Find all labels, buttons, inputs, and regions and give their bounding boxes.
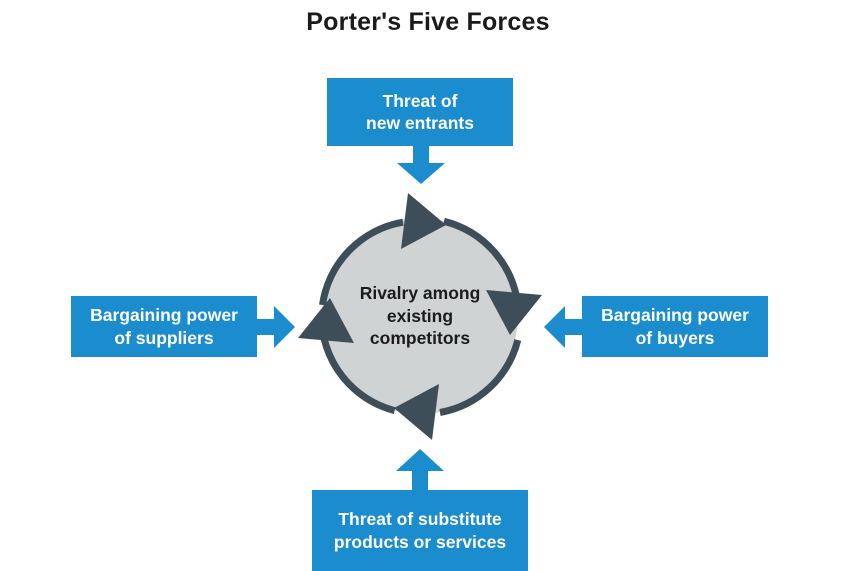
arrow-right-suppliers-to-center: [255, 303, 295, 351]
force-label-threat-of-new-entrants: Threat of new entrants: [366, 90, 474, 135]
force-label-threat-of-substitute-products: Threat of substitute products or service…: [334, 508, 506, 553]
force-label-bargaining-power-of-suppliers: Bargaining power of suppliers: [90, 304, 238, 349]
force-label-bargaining-power-of-buyers: Bargaining power of buyers: [601, 304, 749, 349]
porters-five-forces-diagram: Porter's Five Forces Threat of new entra…: [0, 0, 856, 571]
arrow-left-buyers-to-center: [544, 303, 584, 351]
force-box-bargaining-power-of-suppliers[interactable]: Bargaining power of suppliers: [71, 296, 257, 357]
rivalry-cycle-graphic: [296, 192, 544, 440]
arrow-up-substitutes-to-center: [391, 449, 449, 493]
arrow-down-top-to-center: [392, 145, 450, 184]
force-box-threat-of-new-entrants[interactable]: Threat of new entrants: [327, 78, 513, 146]
page-title: Porter's Five Forces: [0, 8, 856, 37]
force-box-bargaining-power-of-buyers[interactable]: Bargaining power of buyers: [582, 296, 768, 357]
force-box-threat-of-substitute-products[interactable]: Threat of substitute products or service…: [312, 490, 528, 571]
